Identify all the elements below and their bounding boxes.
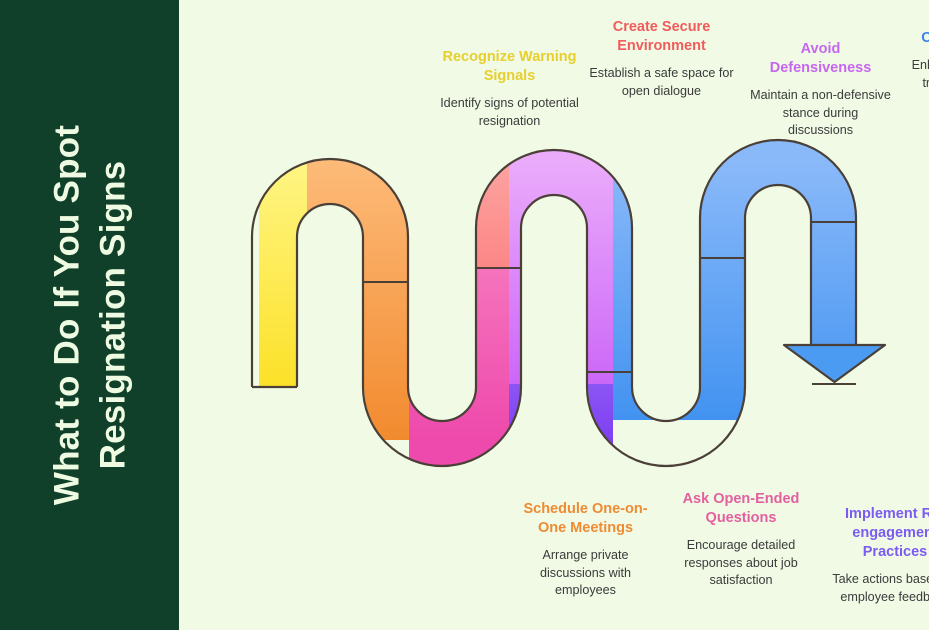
- step-body: Encourage detailed responses about job s…: [668, 537, 814, 589]
- step-heading: Improve Communication: [902, 10, 929, 48]
- step-caption-avoid-defensiveness: Avoid Defensiveness Maintain a non-defen…: [749, 40, 892, 139]
- page-title: What to Do If You Spot Resignation Signs: [44, 0, 135, 630]
- title-panel: What to Do If You Spot Resignation Signs: [0, 0, 179, 630]
- step-heading: Avoid Defensiveness: [749, 40, 892, 78]
- step-caption-improve-communication: Improve Communication Enhance feedback a…: [902, 10, 929, 109]
- step-heading: Ask Open-Ended Questions: [668, 490, 814, 528]
- process-diagram: Recognize Warning Signals Identify signs…: [179, 0, 929, 630]
- step-caption-ask-open-ended-questions: Ask Open-Ended Questions Encourage detai…: [668, 490, 814, 589]
- step-heading: Schedule One-on-One Meetings: [512, 500, 659, 538]
- step-body: Establish a safe space for open dialogue: [589, 65, 734, 100]
- step-caption-schedule-one-on-one-meetings: Schedule One-on-One Meetings Arrange pri…: [512, 500, 659, 599]
- step-caption-create-secure-environment: Create Secure Environment Establish a sa…: [589, 18, 734, 100]
- step-body: Identify signs of potential resignation: [437, 95, 582, 130]
- step-body: Enhance feedback and transparency in the…: [902, 57, 929, 109]
- arrowhead-down-icon: [784, 345, 885, 382]
- page-title-line-1: What to Do If You Spot: [44, 0, 90, 630]
- step-body: Arrange private discussions with employe…: [512, 547, 659, 599]
- step-caption-implement-re-engagement-practices: Implement Re-engagement Practices Take a…: [824, 505, 929, 606]
- infographic-canvas: What to Do If You Spot Resignation Signs: [0, 0, 929, 630]
- step-body: Take actions based on employee feedback: [824, 571, 929, 606]
- step-heading: Implement Re-engagement Practices: [824, 505, 929, 562]
- step-caption-recognize-warning-signals: Recognize Warning Signals Identify signs…: [437, 48, 582, 130]
- step-heading: Create Secure Environment: [589, 18, 734, 56]
- step-heading: Recognize Warning Signals: [437, 48, 582, 86]
- page-title-line-2: Resignation Signs: [90, 0, 136, 630]
- step-body: Maintain a non-defensive stance during d…: [749, 87, 892, 139]
